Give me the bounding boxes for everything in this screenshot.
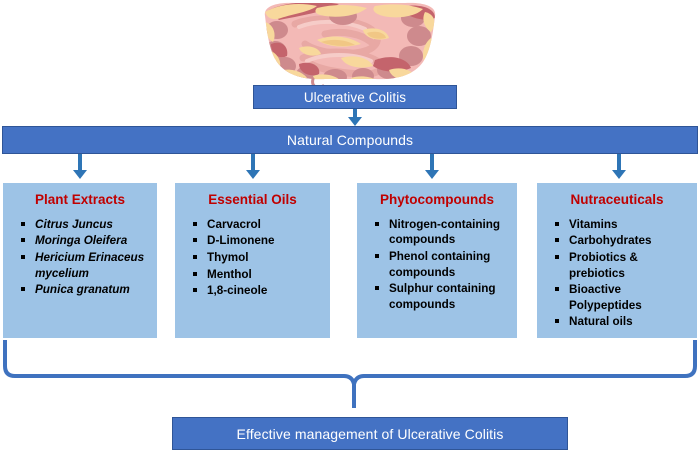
arrow-to-nutraceuticals-head (612, 170, 626, 179)
list-item: Moringa Oleifera (21, 233, 151, 249)
category-box-plant-extracts: Plant Extracts Citrus Juncus Moringa Ole… (3, 183, 157, 338)
list-item: Menthol (193, 267, 324, 283)
converging-bracket-connector (0, 338, 700, 420)
category-title-phytocompounds: Phytocompounds (361, 193, 513, 208)
list-item: 1,8-cineole (193, 283, 324, 299)
list-item: Punica granatum (21, 282, 151, 298)
category-title-nutraceuticals: Nutraceuticals (541, 193, 693, 208)
arrow-to-plant-extracts-head (73, 170, 87, 179)
figure-canvas: Ulcerative Colitis Natural Compounds Pla… (0, 0, 700, 454)
banner-ulcerative-colitis: Ulcerative Colitis (253, 85, 457, 109)
list-item: Phenol containing compounds (375, 249, 511, 280)
list-item: Sulphur containing compounds (375, 281, 511, 312)
category-box-phytocompounds: Phytocompounds Nitrogen-containing compo… (357, 183, 517, 338)
list-item: Nitrogen-containing compounds (375, 217, 511, 248)
list-item: Hericium Erinaceus mycelium (21, 250, 151, 281)
list-item: D-Limonene (193, 233, 324, 249)
category-title-essential-oils: Essential Oils (179, 193, 326, 208)
category-list-phytocompounds: Nitrogen-containing compounds Phenol con… (361, 217, 513, 312)
category-box-essential-oils: Essential Oils Carvacrol D-Limonene Thym… (175, 183, 330, 338)
category-list-nutraceuticals: Vitamins Carbohydrates Probiotics & preb… (541, 217, 693, 330)
list-item: Carvacrol (193, 217, 324, 233)
arrow-to-essential-oils-head (246, 170, 260, 179)
list-item: Probiotics & prebiotics (555, 250, 691, 281)
list-item: Natural oils (555, 314, 691, 330)
list-item: Citrus Juncus (21, 217, 151, 233)
category-list-plant-extracts: Citrus Juncus Moringa Oleifera Hericium … (7, 217, 153, 298)
list-item: Bioactive Polypeptides (555, 282, 691, 313)
arrow-uc-to-natural-compounds-head (348, 117, 362, 126)
inflamed-colon-illustration (255, 0, 445, 86)
arrow-to-phytocompounds-head (425, 170, 439, 179)
category-list-essential-oils: Carvacrol D-Limonene Thymol Menthol 1,8-… (179, 217, 326, 299)
category-title-plant-extracts: Plant Extracts (7, 193, 153, 208)
list-item: Vitamins (555, 217, 691, 233)
list-item: Thymol (193, 250, 324, 266)
category-box-nutraceuticals: Nutraceuticals Vitamins Carbohydrates Pr… (537, 183, 697, 338)
list-item: Carbohydrates (555, 233, 691, 249)
banner-effective-management: Effective management of Ulcerative Colit… (172, 417, 568, 450)
banner-natural-compounds: Natural Compounds (2, 126, 698, 154)
